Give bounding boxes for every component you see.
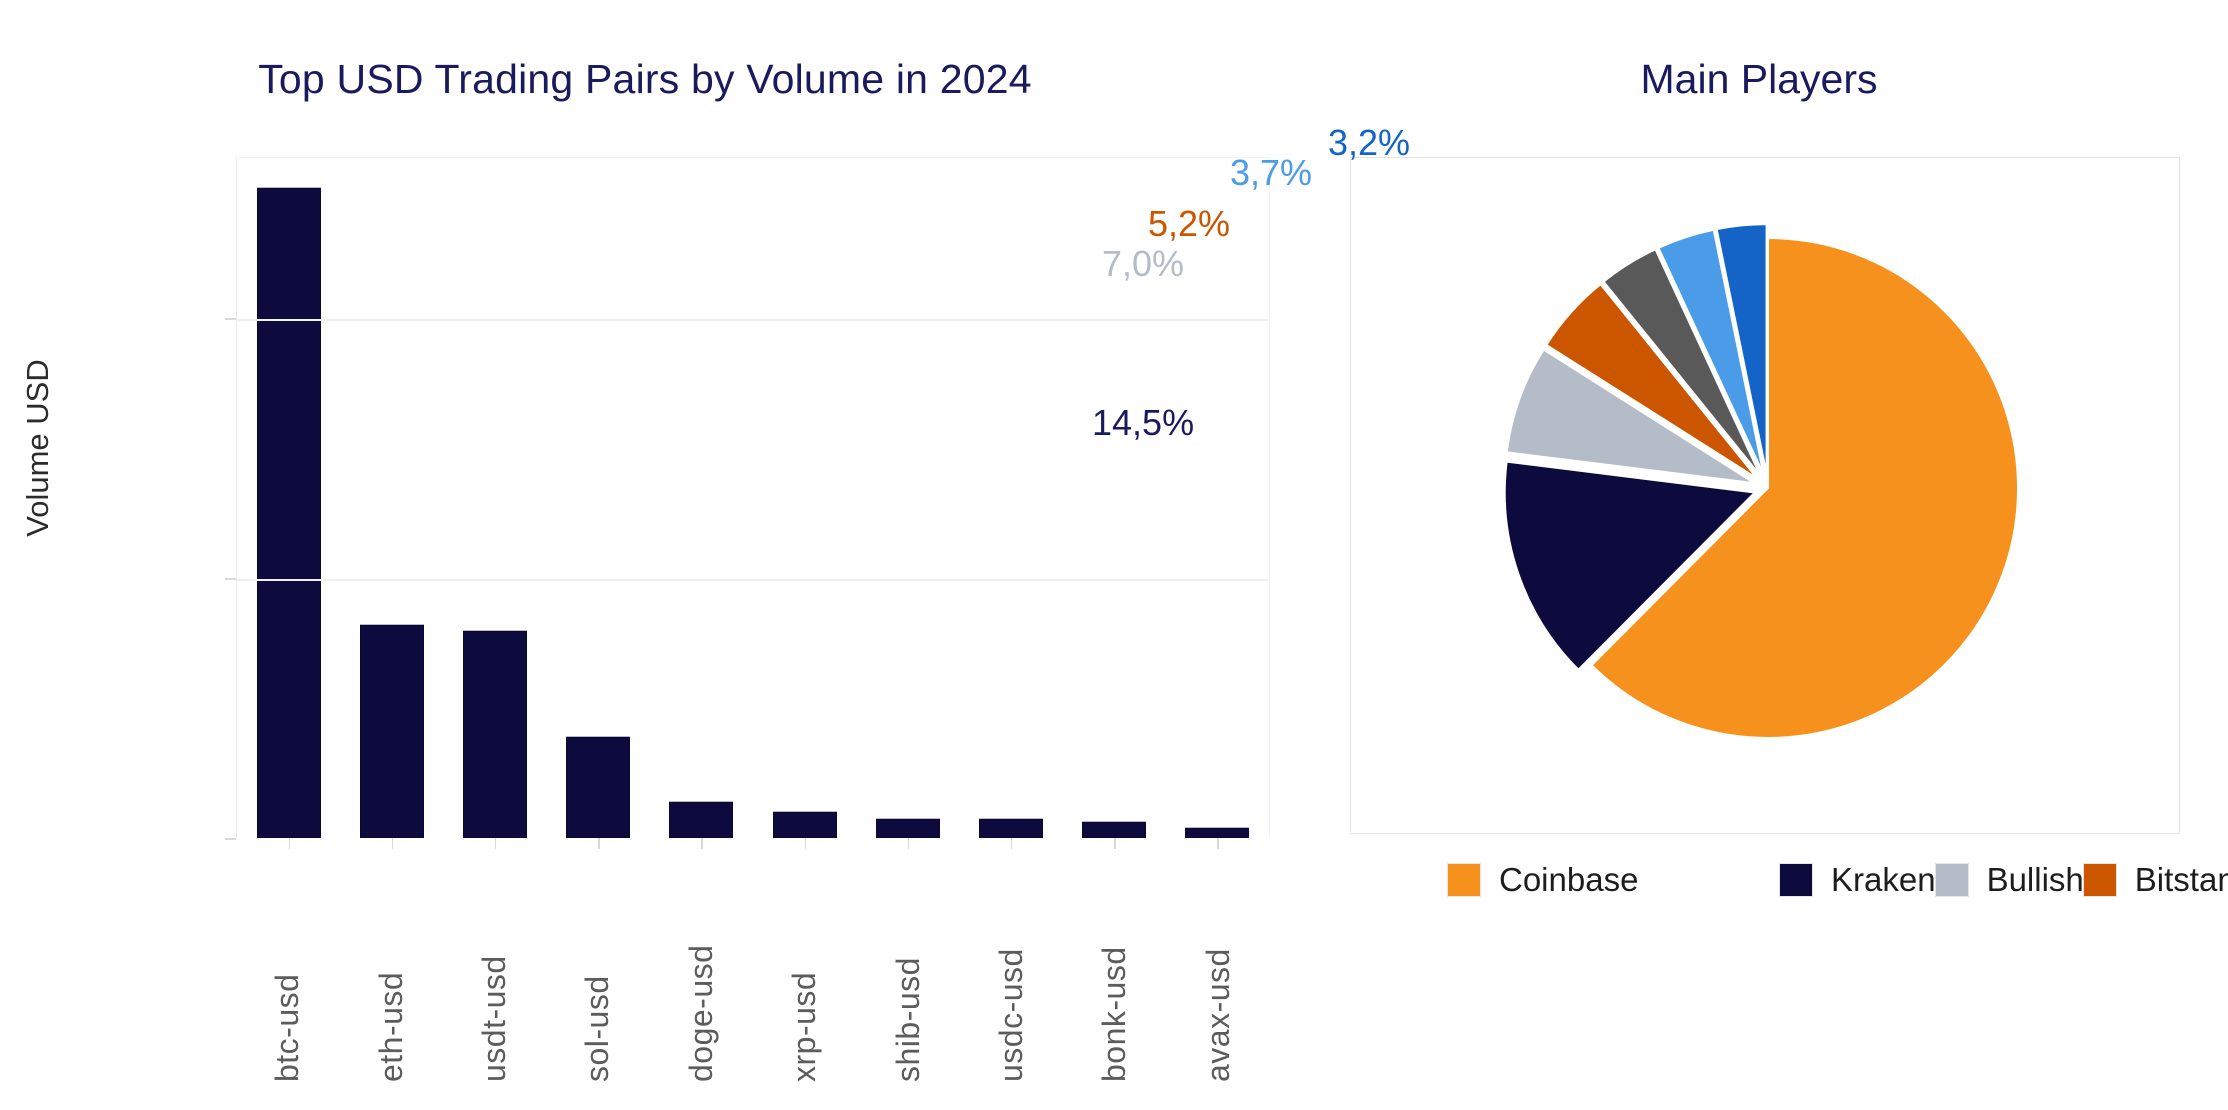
y-tick-mark	[225, 578, 236, 580]
bar[interactable]	[257, 188, 321, 838]
bar-slot	[340, 158, 443, 838]
grid-line	[237, 579, 1269, 581]
pie-chart-plot-area: Coinbase 62.4%Kraken 14.5%Bullish 7%Bits…	[1350, 157, 2180, 834]
pie-percentage-label: 3,7%	[1230, 152, 1312, 194]
legend-item[interactable]: Bullish	[1936, 856, 2084, 903]
x-label-slot: btc-usd	[236, 852, 339, 1082]
bar-slot	[547, 158, 650, 838]
pie-chart-panel: Main Players Coinbase 62.4%Kraken 14.5%B…	[1290, 0, 2228, 1110]
x-label-slot: eth-usd	[339, 852, 442, 1082]
x-tick-label: xrp-usd	[786, 852, 823, 1082]
bar[interactable]	[773, 812, 837, 838]
bar-chart-title: Top USD Trading Pairs by Volume in 2024	[0, 56, 1290, 103]
x-tick-label: eth-usd	[373, 852, 410, 1082]
x-tick-label: bonk-usd	[1096, 852, 1133, 1082]
bar[interactable]	[566, 737, 630, 838]
bar-slot	[856, 158, 959, 838]
bar[interactable]	[360, 625, 424, 838]
x-tick-mark	[1011, 838, 1013, 849]
bar-chart-y-axis-label: Volume USD	[20, 298, 56, 598]
legend-item-label: Coinbase	[1499, 861, 1638, 899]
legend-item-label: Bitstamp	[2135, 861, 2228, 899]
x-label-slot: usdt-usd	[443, 852, 546, 1082]
x-label-slot: avax-usd	[1167, 852, 1270, 1082]
x-label-slot: sol-usd	[546, 852, 649, 1082]
x-tick-label: btc-usd	[269, 852, 306, 1082]
pie-percentage-label: 3,2%	[1328, 122, 1410, 164]
legend-item[interactable]: Bitstamp	[2084, 856, 2228, 903]
x-tick-mark	[598, 838, 600, 849]
pie-chart-legend: CoinbaseKrakenBullishBitstampLMAX Digita…	[1448, 856, 2228, 903]
bar-slot	[237, 158, 340, 838]
x-tick-label: sol-usd	[579, 852, 616, 1082]
pie-percentage-label: 5,2%	[1148, 203, 1230, 245]
dashboard-root: Top USD Trading Pairs by Volume in 2024 …	[0, 0, 2228, 1110]
y-tick-mark	[225, 318, 236, 320]
x-label-slot: bonk-usd	[1063, 852, 1166, 1082]
x-label-slot: usdc-usd	[960, 852, 1063, 1082]
x-tick-mark	[392, 838, 394, 849]
x-tick-mark	[908, 838, 910, 849]
x-tick-mark	[495, 838, 497, 849]
x-tick-label: doge-usd	[683, 852, 720, 1082]
pie-percentage-label: 14,5%	[1092, 402, 1194, 444]
bar[interactable]	[876, 819, 940, 838]
bar-chart-panel: Top USD Trading Pairs by Volume in 2024 …	[0, 0, 1290, 1110]
legend-item[interactable]: Coinbase	[1448, 856, 1780, 903]
pie-chart-graphic: Coinbase 62.4%Kraken 14.5%Bullish 7%Bits…	[1351, 158, 2181, 835]
bar-slot	[753, 158, 856, 838]
bar-slot	[959, 158, 1062, 838]
x-tick-mark	[805, 838, 807, 849]
pie-percentage-label: 62,4%	[1845, 414, 1947, 456]
x-tick-mark	[701, 838, 703, 849]
y-tick-mark	[225, 838, 236, 840]
bar[interactable]	[979, 819, 1043, 838]
bar-chart-x-ticks: btc-usdeth-usdusdt-usdsol-usddoge-usdxrp…	[236, 852, 1270, 1082]
pie-chart-title: Main Players	[1290, 56, 2228, 103]
bar[interactable]	[463, 631, 527, 838]
legend-color-swatch	[1936, 864, 1968, 896]
x-tick-mark	[1217, 838, 1219, 849]
x-tick-label: avax-usd	[1200, 852, 1237, 1082]
x-label-slot: shib-usd	[856, 852, 959, 1082]
bar[interactable]	[1082, 822, 1146, 838]
bar[interactable]	[669, 802, 733, 838]
x-tick-label: shib-usd	[890, 852, 927, 1082]
x-tick-label: usdt-usd	[476, 852, 513, 1082]
legend-item-label: Bullish	[1987, 861, 2084, 899]
bar-slot	[650, 158, 753, 838]
x-tick-label: usdc-usd	[993, 852, 1030, 1082]
legend-color-swatch	[1448, 864, 1480, 896]
pie-percentage-label: 7,0%	[1102, 243, 1184, 285]
x-tick-mark	[1114, 838, 1116, 849]
grid-line	[237, 319, 1269, 321]
x-label-slot: xrp-usd	[753, 852, 856, 1082]
bar-slot	[443, 158, 546, 838]
x-tick-mark	[289, 838, 291, 849]
legend-color-swatch	[2084, 864, 2116, 896]
legend-color-swatch	[1780, 864, 1812, 896]
x-label-slot: doge-usd	[650, 852, 753, 1082]
legend-item-label: Kraken	[1831, 861, 1936, 899]
bar[interactable]	[1185, 828, 1249, 838]
legend-item[interactable]: Kraken	[1780, 856, 1936, 903]
